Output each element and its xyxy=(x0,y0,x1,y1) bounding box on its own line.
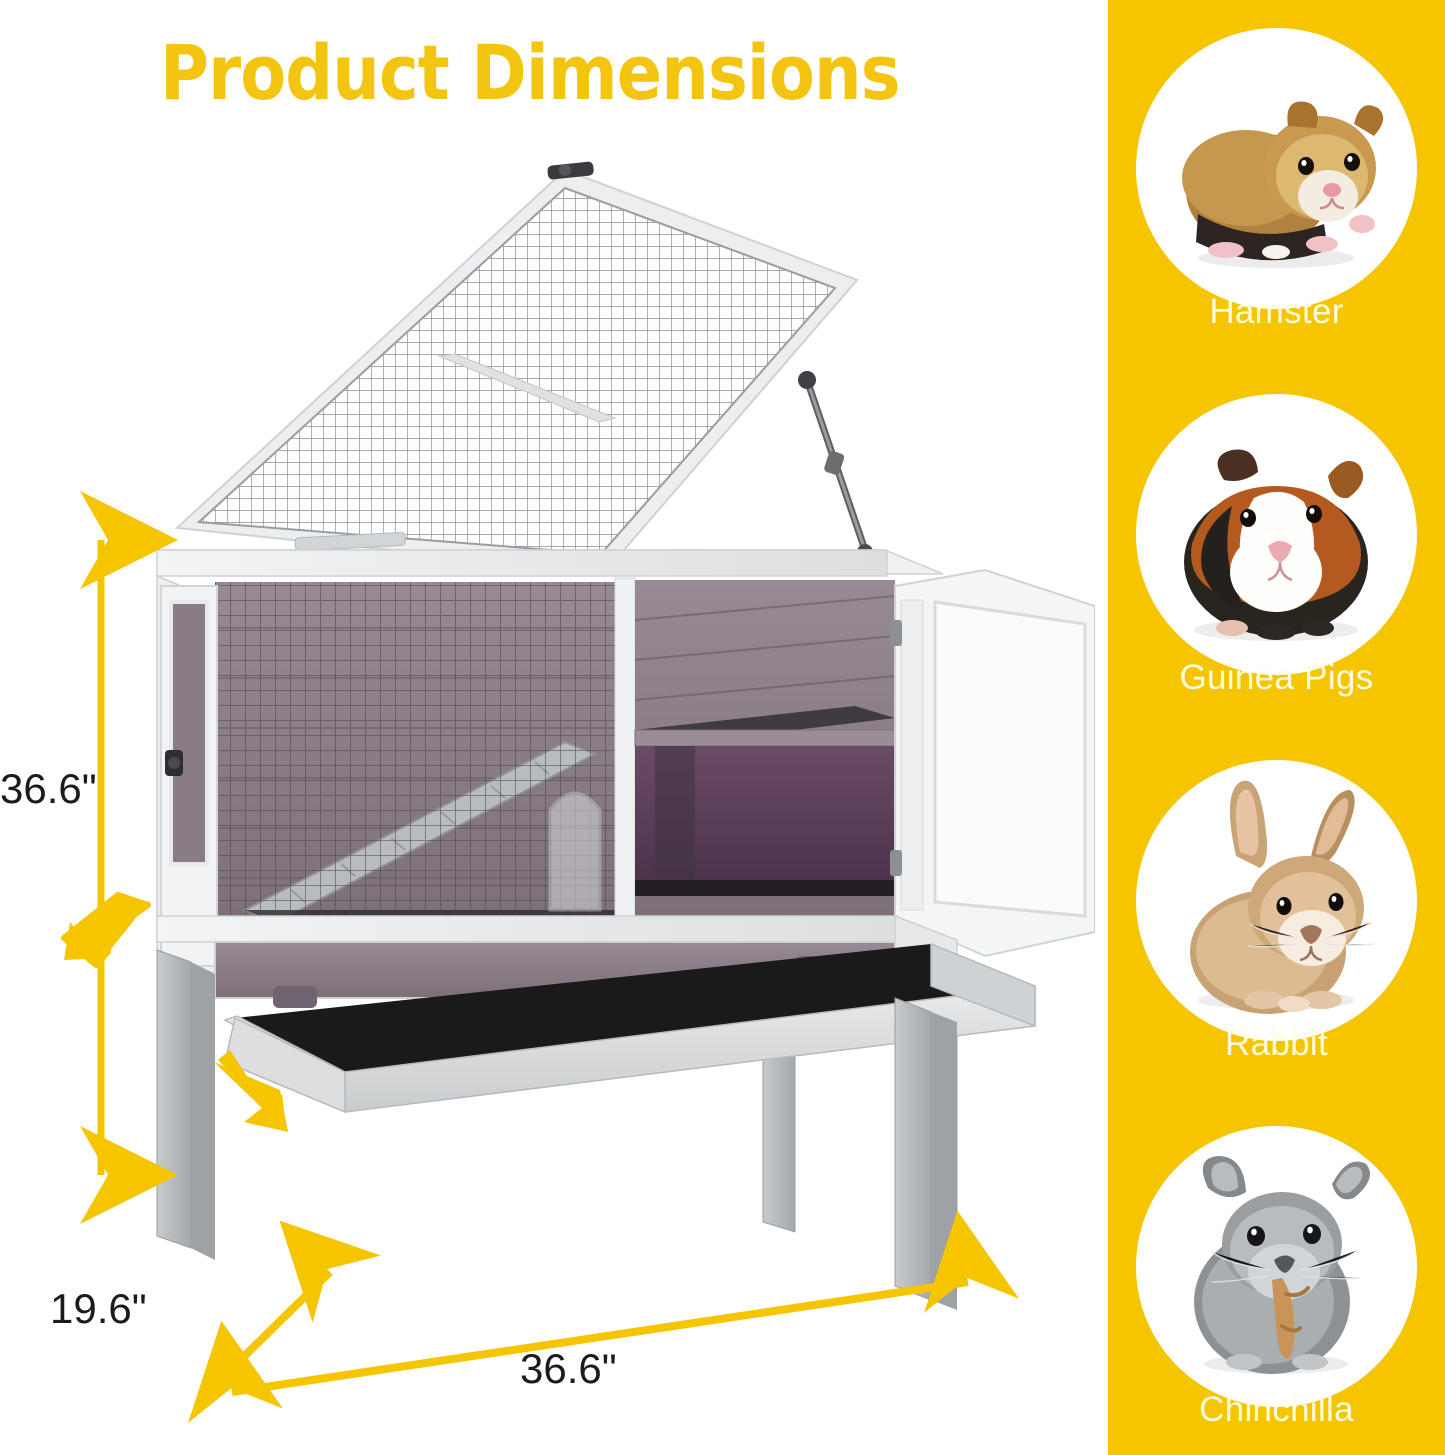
rabbit-photo xyxy=(1136,760,1417,1041)
pet-label-chinchilla: Chinchilla xyxy=(1108,1390,1445,1430)
pet-label-hamster: Hamster xyxy=(1108,292,1445,332)
pet-types-sidebar: Hamster xyxy=(1108,0,1445,1455)
chinchilla-photo xyxy=(1136,1126,1417,1407)
pet-label-rabbit: Rabbit xyxy=(1108,1024,1445,1064)
chinchilla-circle xyxy=(1136,1126,1417,1407)
height-dimension-label: 36.6" xyxy=(0,765,97,813)
guinea-pig-photo xyxy=(1136,394,1417,675)
hamster-photo xyxy=(1136,28,1417,309)
width-dimension-label: 36.6" xyxy=(520,1345,617,1393)
hamster-circle xyxy=(1136,28,1417,309)
depth-arrow-lower xyxy=(214,1050,288,1132)
depth-arrow-bottom xyxy=(222,1272,330,1378)
pet-label-guinea-pigs: Guinea Pigs xyxy=(1108,658,1445,698)
depth-arrow-upper xyxy=(64,895,150,965)
depth-dimension-label: 19.6" xyxy=(50,1285,147,1333)
infographic-canvas: Product Dimensions xyxy=(0,0,1445,1455)
rabbit-circle xyxy=(1136,760,1417,1041)
guinea-pig-circle xyxy=(1136,394,1417,675)
dimension-arrows xyxy=(0,0,1110,1455)
